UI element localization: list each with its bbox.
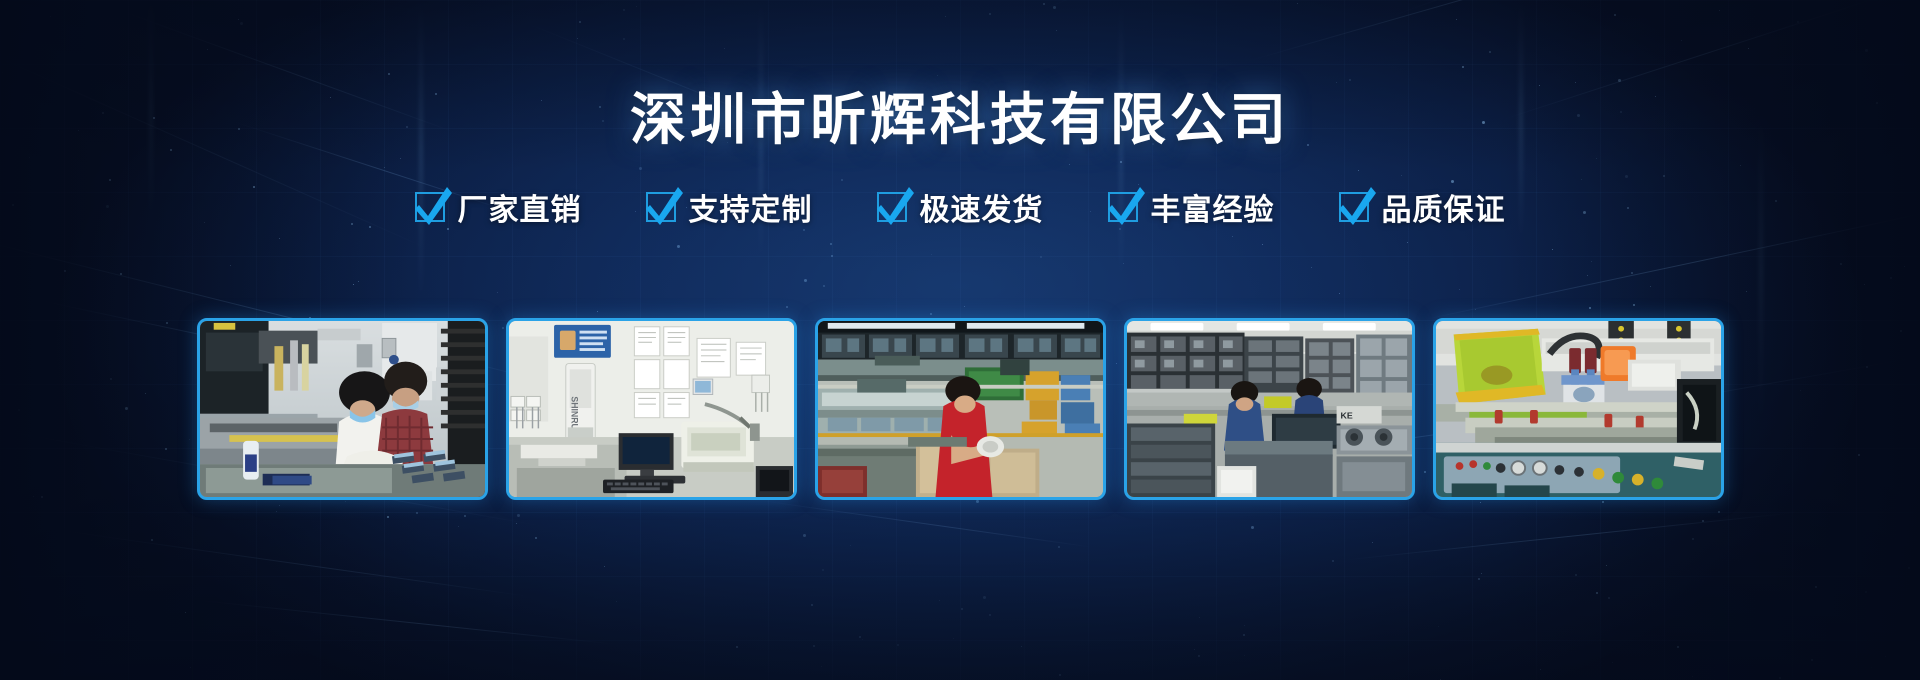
particle-dot bbox=[353, 284, 354, 285]
gallery-photo-card-1[interactable]: 丝印车间工人作业 bbox=[197, 318, 488, 500]
particle-dot bbox=[109, 179, 111, 181]
company-banner: 深圳市昕辉科技有限公司 厂家直销支持定制极速发货丰富经验品质保证 bbox=[0, 0, 1920, 680]
feature-item-3: 极速发货 bbox=[877, 185, 1044, 229]
particle-dot bbox=[961, 608, 963, 610]
particle-dot bbox=[1372, 542, 1373, 543]
particle-dot bbox=[1481, 573, 1482, 574]
particle-dot bbox=[677, 245, 680, 248]
check-square-icon bbox=[646, 192, 676, 222]
particle-dot bbox=[1438, 626, 1439, 627]
particle-dot bbox=[1612, 662, 1613, 663]
particle-dot bbox=[1251, 526, 1254, 529]
svg-text:KE: KE bbox=[1340, 411, 1352, 421]
particle-dot bbox=[1459, 289, 1460, 290]
light-streak bbox=[60, 530, 535, 598]
feature-item-1: 厂家直销 bbox=[415, 185, 582, 229]
particle-dot bbox=[897, 644, 899, 646]
particle-dot bbox=[859, 636, 861, 638]
photo-image bbox=[200, 321, 485, 497]
particle-dot bbox=[279, 505, 280, 506]
particle-dot bbox=[1608, 597, 1610, 599]
particle-dot bbox=[989, 614, 991, 616]
particle-dot bbox=[358, 281, 359, 282]
feature-label: 品质保证 bbox=[1382, 185, 1506, 229]
particle-dot bbox=[1194, 649, 1195, 650]
particle-dot bbox=[616, 601, 617, 602]
particle-dot bbox=[1908, 567, 1910, 569]
particle-dot bbox=[1478, 578, 1480, 580]
particle-dot bbox=[185, 612, 186, 613]
particle-dot bbox=[1840, 263, 1842, 265]
particle-dot bbox=[464, 515, 466, 517]
particle-dot bbox=[930, 313, 932, 315]
particle-dot bbox=[1746, 291, 1747, 292]
particle-dot bbox=[1244, 655, 1245, 656]
particle-dot bbox=[939, 600, 940, 601]
particle-dot bbox=[1677, 646, 1679, 648]
particle-dot bbox=[517, 514, 520, 517]
particle-dot bbox=[736, 646, 738, 648]
feature-label: 极速发货 bbox=[920, 185, 1044, 229]
particle-dot bbox=[1692, 538, 1694, 540]
particle-dot bbox=[1779, 677, 1781, 679]
particle-dot bbox=[850, 545, 851, 546]
particle-dot bbox=[803, 229, 805, 231]
particle-dot bbox=[279, 238, 280, 239]
particle-dot bbox=[1358, 170, 1359, 171]
particle-dot bbox=[1311, 267, 1312, 268]
particle-dot bbox=[1332, 560, 1334, 562]
feature-item-2: 支持定制 bbox=[646, 185, 813, 229]
particle-dot bbox=[604, 566, 605, 567]
particle-dot bbox=[1663, 175, 1665, 177]
particle-dot bbox=[516, 523, 517, 524]
gallery-photo-card-5[interactable]: 自动丝印机设备 bbox=[1433, 318, 1724, 500]
particle-dot bbox=[1540, 669, 1541, 670]
particle-dot bbox=[1451, 180, 1454, 183]
particle-dot bbox=[1407, 242, 1408, 243]
gallery-photo-card-4[interactable]: KE 仓库与生产设备区 bbox=[1124, 318, 1415, 500]
particle-dot bbox=[1631, 272, 1633, 274]
particle-dot bbox=[1475, 309, 1476, 310]
title-container: 深圳市昕辉科技有限公司 bbox=[0, 0, 1920, 170]
particle-dot bbox=[1890, 277, 1892, 279]
particle-dot bbox=[823, 285, 825, 287]
feature-list: 厂家直销支持定制极速发货丰富经验品质保证 bbox=[0, 185, 1920, 229]
photo-image: SHINRUN bbox=[509, 321, 794, 497]
particle-dot bbox=[786, 306, 788, 308]
particle-dot bbox=[1815, 586, 1817, 588]
particle-dot bbox=[1718, 511, 1720, 513]
particle-dot bbox=[345, 501, 346, 502]
particle-dot bbox=[64, 270, 66, 272]
particle-dot bbox=[1552, 249, 1553, 250]
particle-dot bbox=[841, 179, 843, 181]
particle-dot bbox=[1198, 655, 1200, 657]
particle-dot bbox=[1702, 520, 1704, 522]
light-streak bbox=[1340, 512, 1798, 561]
particle-dot bbox=[276, 511, 277, 512]
particle-dot bbox=[831, 255, 833, 257]
particle-dot bbox=[1606, 565, 1607, 566]
particle-dot bbox=[597, 311, 598, 312]
feature-label: 支持定制 bbox=[689, 185, 813, 229]
particle-dot bbox=[416, 512, 418, 514]
photo-image bbox=[1436, 321, 1721, 497]
particle-dot bbox=[1650, 286, 1651, 287]
particle-dot bbox=[1262, 244, 1263, 245]
check-square-icon bbox=[1108, 192, 1138, 222]
particle-dot bbox=[1575, 574, 1577, 576]
particle-dot bbox=[1692, 676, 1693, 677]
particle-dot bbox=[976, 500, 979, 503]
gallery-photo-card-3[interactable]: 装配车间员工作业 bbox=[815, 318, 1106, 500]
particle-dot bbox=[830, 243, 832, 245]
particle-dot bbox=[1871, 667, 1872, 668]
gallery-photo-card-2[interactable]: SHINRUN bbox=[506, 318, 797, 500]
particle-dot bbox=[1243, 634, 1245, 636]
particle-dot bbox=[1480, 502, 1481, 503]
particle-dot bbox=[1602, 501, 1604, 503]
particle-dot bbox=[953, 638, 954, 639]
particle-dot bbox=[1589, 307, 1591, 309]
feature-item-4: 丰富经验 bbox=[1108, 185, 1275, 229]
photo-image bbox=[818, 321, 1103, 497]
photo-image: KE bbox=[1127, 321, 1412, 497]
particle-dot bbox=[983, 596, 986, 599]
particle-dot bbox=[230, 265, 231, 266]
particle-dot bbox=[1596, 592, 1598, 594]
particle-dot bbox=[1199, 617, 1200, 618]
particle-dot bbox=[1904, 266, 1905, 267]
particle-dot bbox=[1232, 236, 1233, 237]
particle-dot bbox=[1244, 625, 1245, 626]
particle-dot bbox=[1864, 284, 1865, 285]
particle-dot bbox=[1633, 304, 1635, 306]
particle-dot bbox=[1587, 275, 1588, 276]
particle-dot bbox=[1059, 674, 1061, 676]
particle-dot bbox=[964, 306, 965, 307]
particle-dot bbox=[1591, 261, 1592, 262]
particle-dot bbox=[1401, 175, 1402, 176]
particle-dot bbox=[190, 667, 191, 668]
particle-dot bbox=[458, 526, 459, 527]
particle-dot bbox=[1885, 656, 1886, 657]
check-square-icon bbox=[1339, 192, 1369, 222]
particle-dot bbox=[1021, 646, 1022, 647]
particle-dot bbox=[387, 516, 389, 518]
feature-label: 厂家直销 bbox=[458, 185, 582, 229]
particle-dot bbox=[497, 292, 498, 293]
light-streak bbox=[200, 600, 618, 645]
particle-dot bbox=[1811, 659, 1813, 661]
light-streak bbox=[760, 500, 1097, 548]
particle-dot bbox=[862, 639, 863, 640]
feature-label: 丰富经验 bbox=[1151, 185, 1275, 229]
particle-dot bbox=[1865, 591, 1867, 593]
particle-dot bbox=[1339, 293, 1340, 294]
page-title: 深圳市昕辉科技有限公司 bbox=[630, 92, 1290, 148]
particle-dot bbox=[931, 254, 932, 255]
particle-dot bbox=[803, 534, 806, 537]
particle-dot bbox=[821, 666, 822, 667]
check-square-icon bbox=[415, 192, 445, 222]
particle-dot bbox=[822, 569, 824, 571]
particle-dot bbox=[120, 273, 122, 275]
particle-dot bbox=[804, 279, 807, 282]
particle-dot bbox=[1123, 263, 1124, 264]
particle-dot bbox=[813, 645, 815, 647]
particle-dot bbox=[811, 604, 813, 606]
particle-dot bbox=[1058, 546, 1060, 548]
particle-dot bbox=[1625, 175, 1628, 178]
particle-dot bbox=[151, 539, 153, 541]
particle-dot bbox=[1040, 256, 1042, 258]
photo-gallery: 丝印车间工人作业 bbox=[0, 318, 1920, 500]
particle-dot bbox=[1581, 179, 1582, 180]
check-square-icon bbox=[877, 192, 907, 222]
particle-dot bbox=[535, 537, 537, 539]
feature-item-5: 品质保证 bbox=[1339, 185, 1506, 229]
